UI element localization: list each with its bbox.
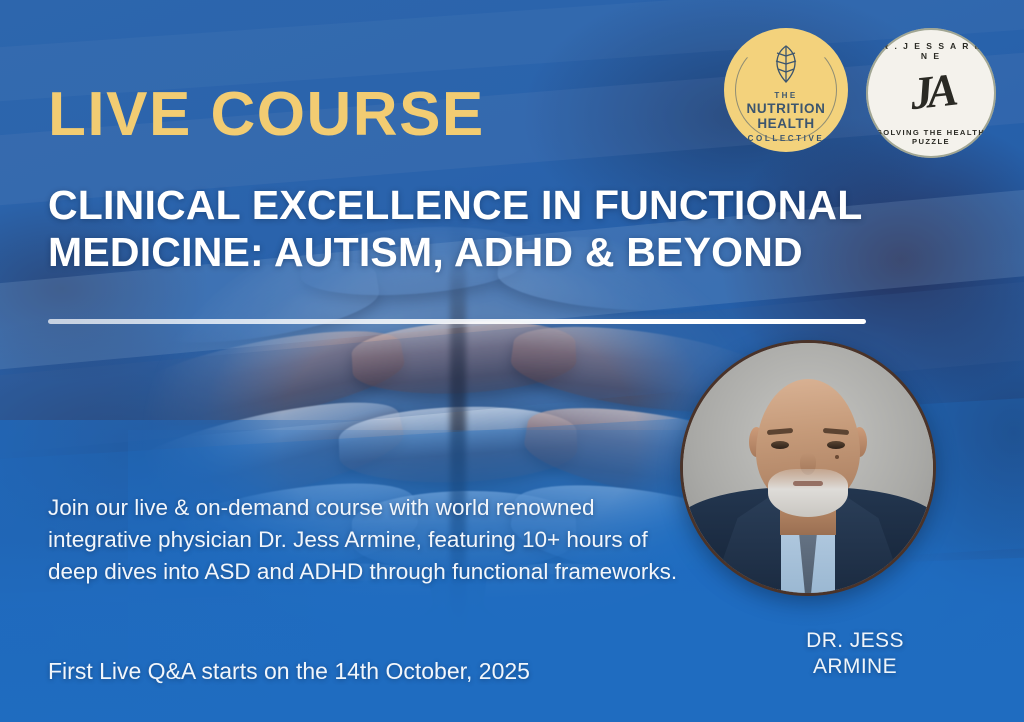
headline-line-1: CLINICAL EXCELLENCE IN FUNCTIONAL [48,182,948,229]
logo-group: THE NUTRITION HEALTH COLLECTIVE D R . J … [724,28,996,158]
divider-rule [48,319,866,324]
portrait-beard [768,469,848,517]
page-title: CLINICAL EXCELLENCE IN FUNCTIONAL MEDICI… [48,182,948,275]
promo-banner: THE NUTRITION HEALTH COLLECTIVE D R . J … [0,0,1024,722]
portrait-caption-line2: ARMINE [740,654,970,680]
course-description: Join our live & on-demand course with wo… [48,492,688,589]
nutrition-health-collective-logo: THE NUTRITION HEALTH COLLECTIVE [724,28,848,152]
portrait-caption-line1: DR. JESS [740,628,970,654]
eyebrow-live-course: LIVE COURSE [48,84,485,146]
logo-collective-label: COLLECTIVE [724,134,848,143]
portrait-mouth [793,481,823,486]
dr-jess-armine-logo: D R . J E S S A R M I N E JA SOLVING THE… [866,28,996,158]
avatar [680,340,936,596]
portrait-eye-left [771,441,789,449]
portrait-mole [835,455,839,459]
portrait-caption: DR. JESS ARMINE [740,628,970,681]
logo-ja-bottom-text: SOLVING THE HEALTH PUZZLE [866,128,996,146]
portrait-eye-right [827,441,845,449]
headline-line-2: MEDICINE: AUTISM, ADHD & BEYOND [48,229,948,276]
event-date-line: First Live Q&A starts on the 14th Octobe… [48,658,530,685]
